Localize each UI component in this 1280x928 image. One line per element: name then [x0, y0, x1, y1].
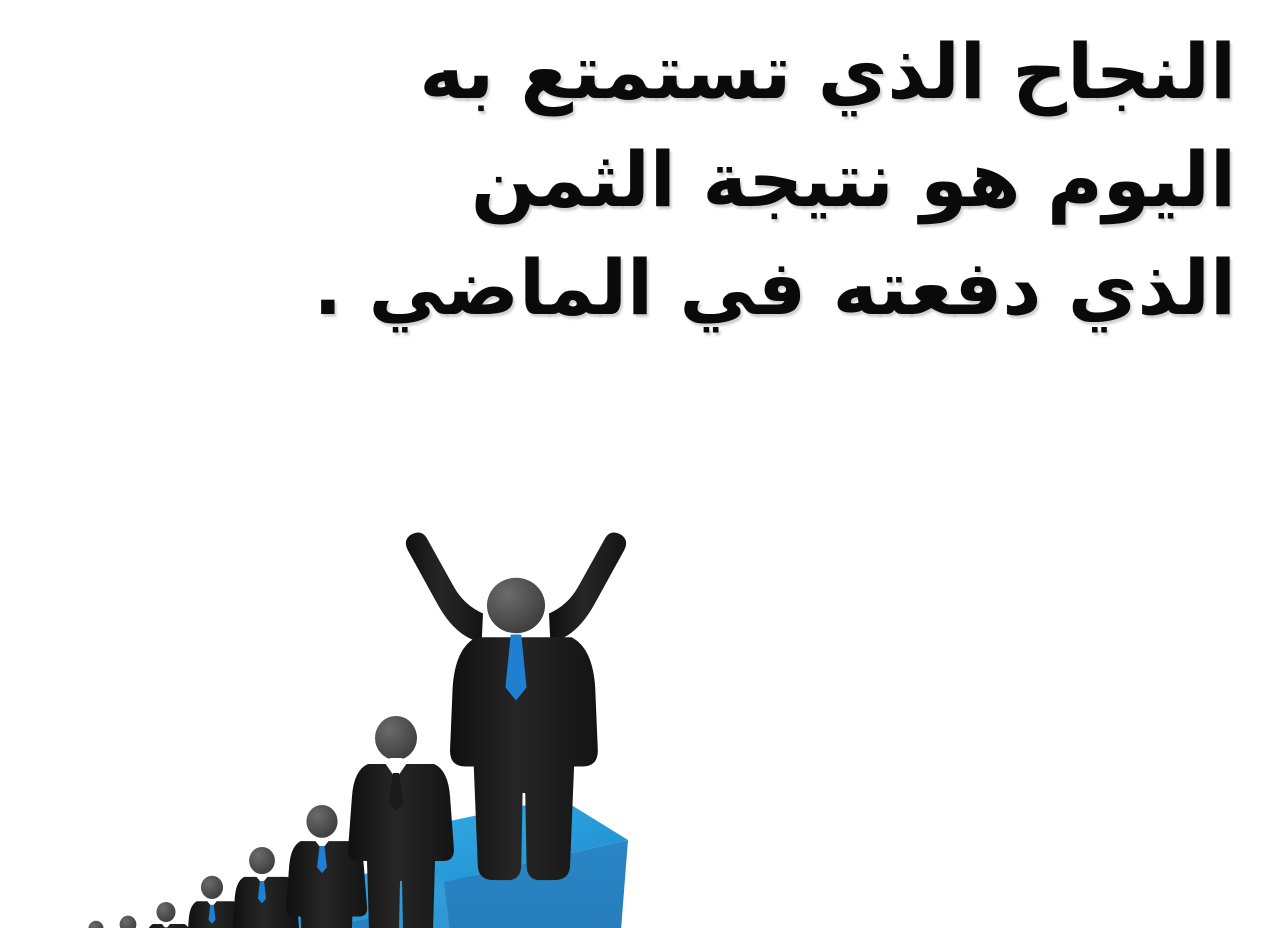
head-icon [88, 921, 103, 928]
head-icon [375, 716, 417, 760]
head-icon [157, 902, 176, 922]
head-icon [306, 805, 337, 838]
businessman-figure-3 [144, 902, 194, 928]
poster-root: النجاح الذي تستمتع به اليوم هو نتيجة الث… [0, 0, 1280, 928]
head-icon [201, 876, 223, 899]
head-icon [249, 847, 275, 874]
businessman-figure-2 [109, 916, 153, 928]
quote-line-1: النجاح الذي تستمتع به [406, 18, 1236, 126]
quote-line-3: الذي دفعته في الماضي . [406, 234, 1236, 342]
head-icon [120, 916, 137, 928]
success-bar-chart-graphic [0, 392, 700, 928]
head-icon [487, 578, 545, 633]
businessman-figure-1 [78, 921, 118, 928]
quote-block: النجاح الذي تستمتع به اليوم هو نتيجة الث… [406, 18, 1236, 342]
chart-illustration [0, 392, 700, 928]
quote-line-2: اليوم هو نتيجة الثمن [406, 126, 1236, 234]
left-arm-raised [406, 532, 483, 642]
right-arm-raised [549, 532, 626, 642]
